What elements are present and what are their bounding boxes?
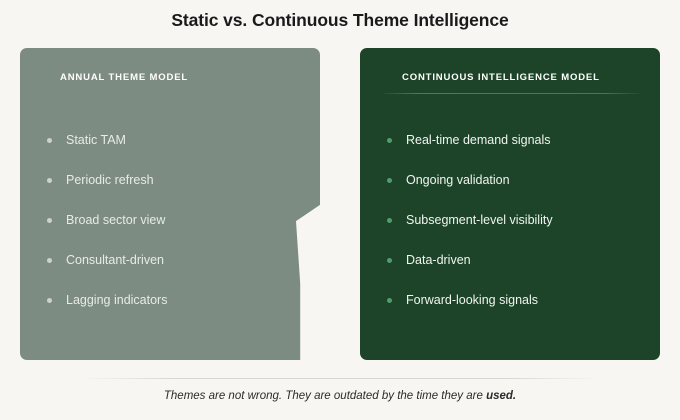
list-item: Broad sector view [44, 200, 304, 240]
panel-left-bullet-list: Static TAM Periodic refresh Broad sector… [44, 120, 304, 320]
list-item-label: Lagging indicators [66, 292, 167, 308]
bullet-dot-icon [47, 138, 52, 143]
bullet-dot-icon [47, 218, 52, 223]
list-item-label: Real-time demand signals [406, 132, 551, 148]
list-item: Ongoing validation [384, 160, 644, 200]
list-item-label: Periodic refresh [66, 172, 154, 188]
bullet-dot-icon [387, 138, 392, 143]
list-item-label: Forward-looking signals [406, 292, 538, 308]
bullet-dot-icon [387, 298, 392, 303]
footer-caption-emphasis: used. [486, 390, 516, 402]
list-item: Periodic refresh [44, 160, 304, 200]
bullet-dot-icon [387, 218, 392, 223]
list-item-label: Broad sector view [66, 212, 165, 228]
list-item: Subsegment-level visibility [384, 200, 644, 240]
list-item: Real-time demand signals [384, 120, 644, 160]
page-title: Static vs. Continuous Theme Intelligence [0, 10, 680, 31]
list-item-label: Ongoing validation [406, 172, 510, 188]
footer-caption: Themes are not wrong. They are outdated … [0, 390, 680, 402]
list-item-label: Data-driven [406, 252, 471, 268]
bullet-dot-icon [47, 258, 52, 263]
panel-right-bullet-list: Real-time demand signals Ongoing validat… [384, 120, 644, 320]
footer-caption-lead: Themes are not wrong. They are outdated … [164, 390, 486, 402]
list-item: Consultant-driven [44, 240, 304, 280]
list-item: Lagging indicators [44, 280, 304, 320]
panel-right-header: CONTINUOUS INTELLIGENCE MODEL [402, 72, 600, 83]
list-item-label: Static TAM [66, 132, 126, 148]
panel-annual-theme-model: ANNUAL THEME MODEL Static TAM Periodic r… [20, 48, 320, 360]
list-item: Static TAM [44, 120, 304, 160]
panel-left-header: ANNUAL THEME MODEL [60, 72, 188, 83]
footer-divider [80, 378, 600, 379]
bullet-dot-icon [47, 178, 52, 183]
bullet-dot-icon [387, 178, 392, 183]
list-item-label: Subsegment-level visibility [406, 212, 553, 228]
panel-right-header-divider [384, 93, 640, 94]
bullet-dot-icon [47, 298, 52, 303]
list-item: Data-driven [384, 240, 644, 280]
list-item: Forward-looking signals [384, 280, 644, 320]
panel-continuous-intelligence-model: CONTINUOUS INTELLIGENCE MODEL Real-time … [360, 48, 660, 360]
bullet-dot-icon [387, 258, 392, 263]
list-item-label: Consultant-driven [66, 252, 164, 268]
